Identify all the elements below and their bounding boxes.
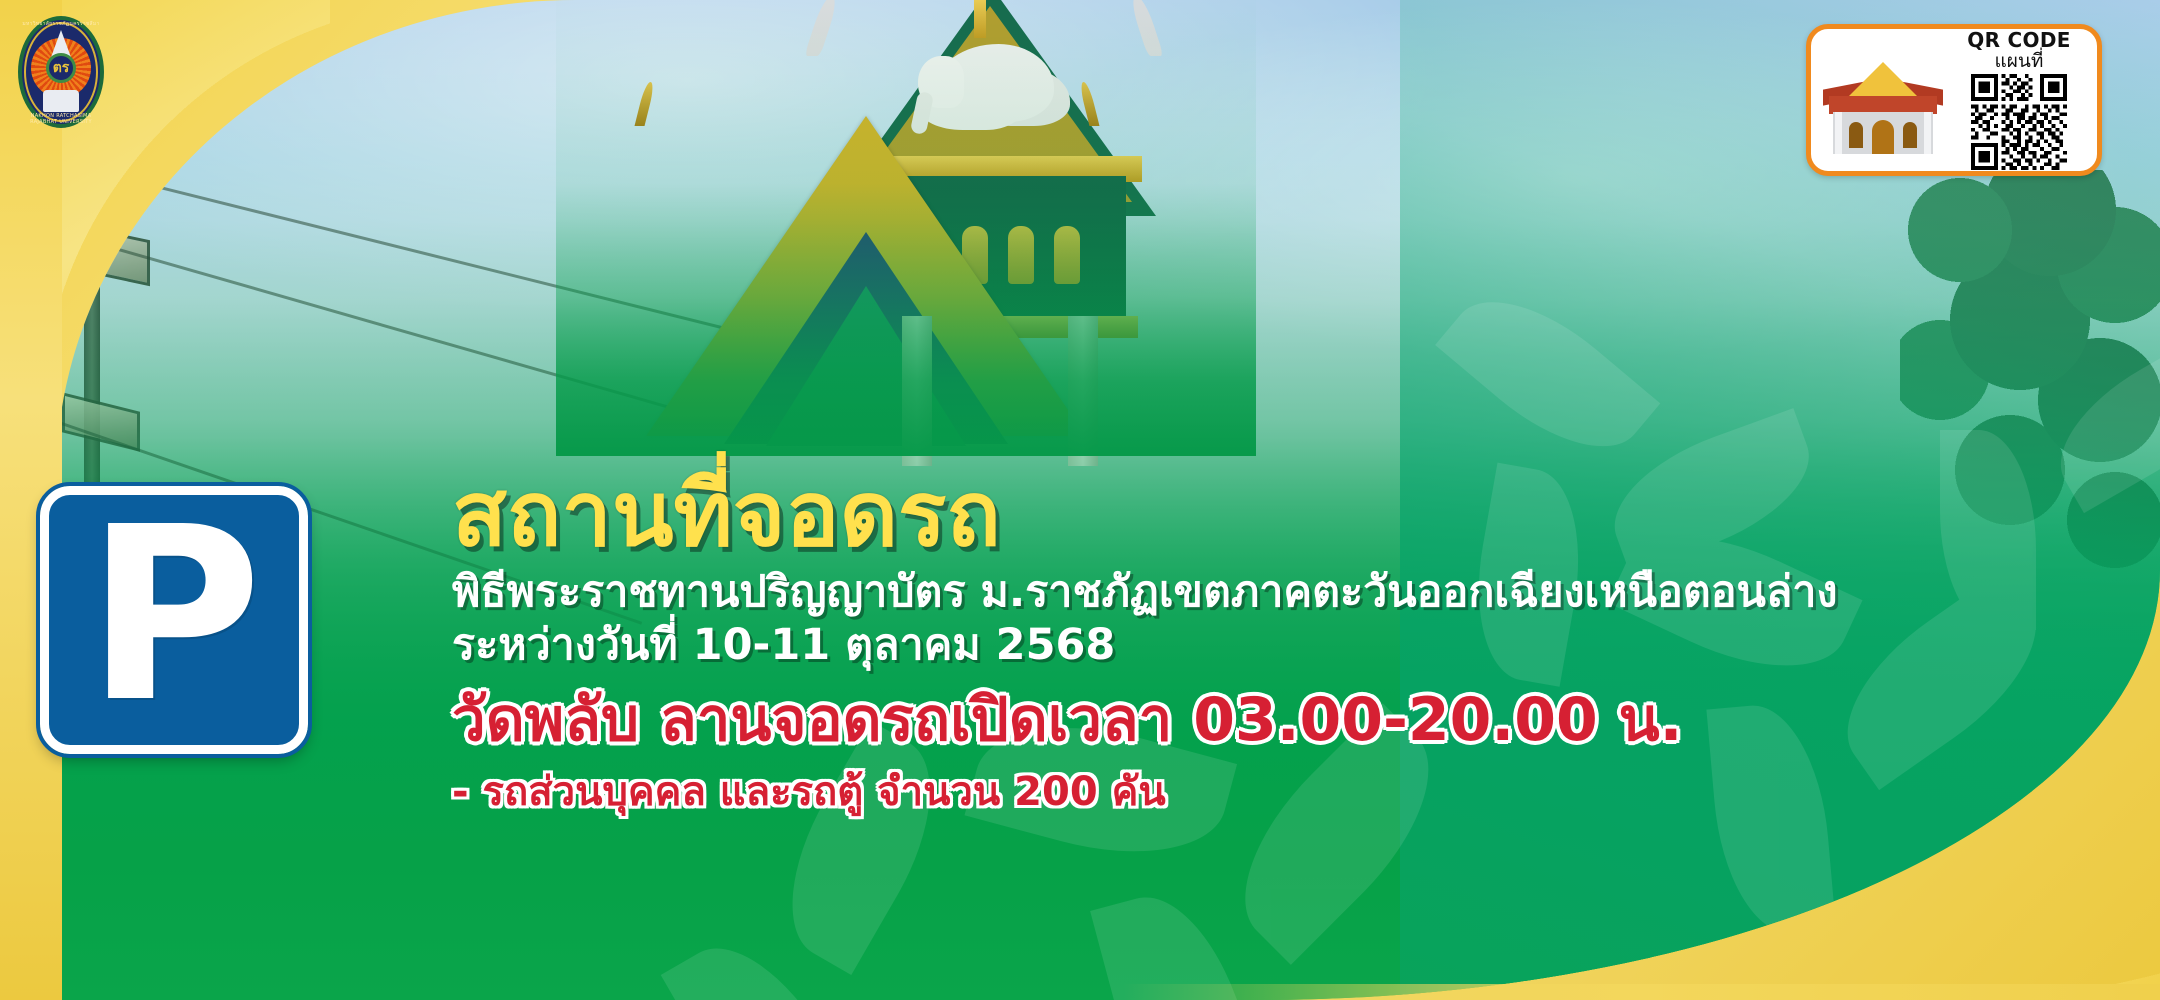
thai-temple-icon — [1821, 44, 1945, 156]
page-title: สถานที่จอดรถ — [452, 470, 2092, 560]
subtitle-line-2: ระหว่างวันที่ 10-11 ตุลาคม 2568 — [452, 619, 2092, 672]
parking-letter: P — [86, 517, 262, 714]
temple-icon-window-right — [1903, 122, 1917, 148]
temple-icon-column-right — [1924, 112, 1931, 154]
university-logo: มหาวิทยาลัยราชภัฏนครราชสีมา ตร NAKHON RA… — [18, 16, 104, 128]
logo-english-name: NAKHON RATCHASIMA RAJABHAT UNIVERSITY — [18, 113, 104, 125]
temple-icon-door — [1872, 120, 1894, 154]
logo-glyph: ตร — [53, 57, 70, 79]
qr-label-group: QR CODE แผนที่ — [1951, 30, 2087, 171]
logo-center-disc: ตร — [46, 53, 76, 83]
gold-edge-bottom — [0, 984, 2160, 1000]
temple-icon-window-left — [1849, 122, 1863, 148]
logo-pedestal — [43, 90, 79, 112]
qr-code-subtitle: แผนที่ — [1995, 51, 2044, 72]
temple-icon-column-left — [1835, 112, 1842, 154]
qr-code-title: QR CODE — [1967, 30, 2070, 51]
text-content-block: สถานที่จอดรถ พิธีพระราชทานปริญญาบัตร ม.ร… — [452, 470, 2092, 816]
parking-announcement-poster: มหาวิทยาลัยราชภัฏนครราชสีมา ตร NAKHON RA… — [0, 0, 2160, 1000]
capacity-note: - รถส่วนบุคคล และรถตู้ จำนวน 200 คัน — [452, 768, 2092, 816]
parking-sign: P — [40, 486, 308, 754]
qr-code-card[interactable]: QR CODE แผนที่ — [1806, 24, 2102, 176]
qr-code-image[interactable] — [1960, 74, 2078, 170]
logo-thai-name: มหาวิทยาลัยราชภัฏนครราชสีมา — [18, 20, 104, 28]
venue-and-hours: วัดพลับ ลานจอดรถเปิดเวลา 03.00-20.00 น. — [452, 687, 2092, 754]
subtitle-line-1: พิธีพระราชทานปริญญาบัตร ม.ราชภัฏเขตภาคตะ… — [452, 566, 2092, 619]
